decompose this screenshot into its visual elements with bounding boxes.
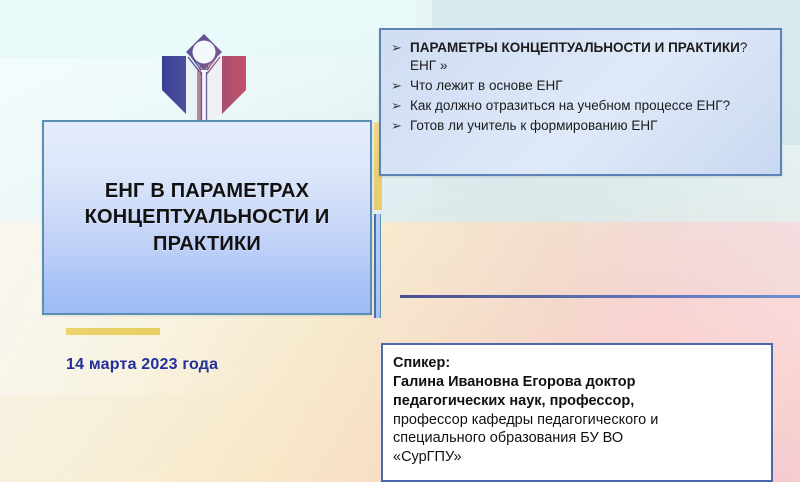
list-item-label: ПАРАМЕТРЫ КОНЦЕПТУАЛЬНОСТИ И ПРАКТИКИ?ЕН… bbox=[410, 39, 770, 75]
speaker-name-line-2: педагогических наук, профессор, bbox=[393, 392, 761, 411]
speaker-box: Спикер: Галина Ивановна Егорова доктор п… bbox=[381, 343, 773, 482]
agenda-box: ➢ ПАРАМЕТРЫ КОНЦЕПТУАЛЬНОСТИ И ПРАКТИКИ?… bbox=[379, 28, 782, 176]
list-item-label: Как должно отразиться на учебном процесс… bbox=[410, 97, 770, 115]
list-item-label: Готов ли учитель к формированию ЕНГ bbox=[410, 117, 770, 135]
blue-seam-strip bbox=[374, 214, 381, 318]
speaker-detail-line-3: «СурГПУ» bbox=[393, 448, 761, 467]
list-item: ➢ ПАРАМЕТРЫ КОНЦЕПТУАЛЬНОСТИ И ПРАКТИКИ?… bbox=[389, 39, 770, 75]
arrow-bullet-icon: ➢ bbox=[389, 117, 410, 134]
speaker-name-line-1: Галина Ивановна Егорова доктор bbox=[393, 373, 761, 392]
list-item: ➢ Готов ли учитель к формированию ЕНГ bbox=[389, 117, 770, 135]
agenda-list: ➢ ПАРАМЕТРЫ КОНЦЕПТУАЛЬНОСТИ И ПРАКТИКИ?… bbox=[389, 39, 770, 135]
arrow-bullet-icon: ➢ bbox=[389, 97, 410, 114]
gold-accent-bar bbox=[66, 328, 160, 335]
speaker-detail-line-1: профессор кафедры педагогического и bbox=[393, 411, 761, 430]
list-item-label: Что лежит в основе ЕНГ bbox=[410, 77, 770, 95]
list-item: ➢ Как должно отразиться на учебном проце… bbox=[389, 97, 770, 115]
arrow-bullet-icon: ➢ bbox=[389, 39, 410, 56]
speaker-detail-line-2: специального образования БУ ВО bbox=[393, 429, 761, 448]
title-box: ЕНГ В ПАРАМЕТРАХ КОНЦЕПТУАЛЬНОСТИ И ПРАК… bbox=[42, 120, 372, 315]
arrow-bullet-icon: ➢ bbox=[389, 77, 410, 94]
speaker-label: Спикер: bbox=[393, 354, 761, 373]
event-date: 14 марта 2023 года bbox=[66, 356, 218, 374]
list-item-strong: ПАРАМЕТРЫ КОНЦЕПТУАЛЬНОСТИ И ПРАКТИКИ bbox=[410, 40, 740, 55]
list-item: ➢ Что лежит в основе ЕНГ bbox=[389, 77, 770, 95]
presentation-slide: ЕНГ В ПАРАМЕТРАХ КОНЦЕПТУАЛЬНОСТИ И ПРАК… bbox=[0, 0, 800, 482]
page-title: ЕНГ В ПАРАМЕТРАХ КОНЦЕПТУАЛЬНОСТИ И ПРАК… bbox=[44, 178, 370, 257]
horizontal-divider bbox=[400, 295, 800, 298]
university-logo bbox=[152, 28, 256, 124]
